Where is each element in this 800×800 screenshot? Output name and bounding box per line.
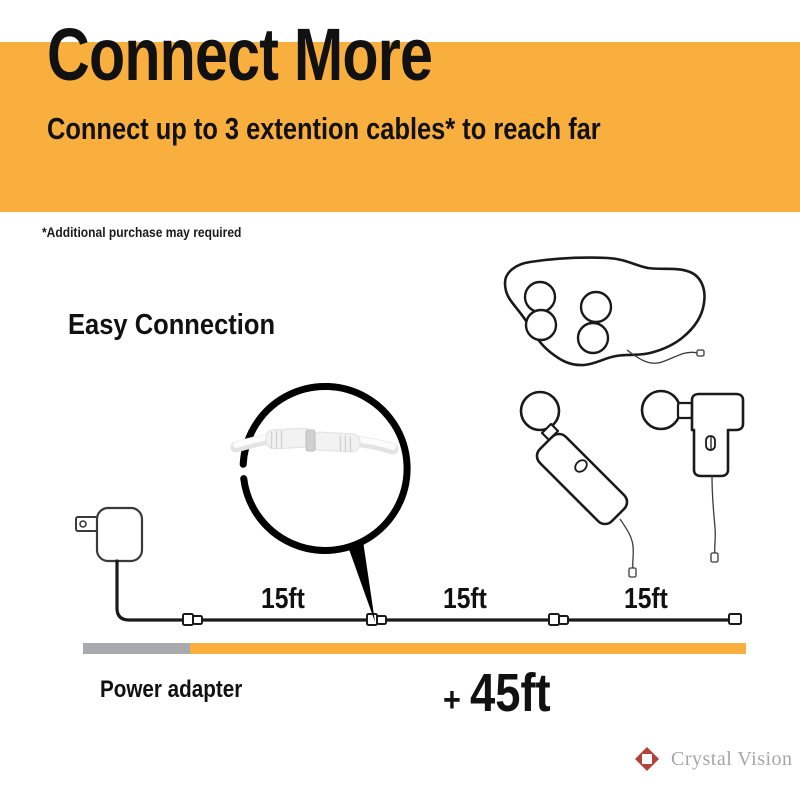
total-value: 45ft — [470, 662, 551, 724]
brand-logo: Crystal Vision — [634, 746, 793, 772]
total-length: + 45ft — [443, 662, 566, 724]
massage-pad-icon — [505, 258, 704, 365]
power-adapter-label: Power adapter — [100, 676, 242, 704]
adapter-length-bar — [83, 643, 190, 654]
massage-wand-icon — [521, 392, 636, 577]
diamond-logo-icon — [634, 746, 660, 772]
power-adapter-icon — [76, 508, 183, 620]
cable-connector — [367, 614, 386, 625]
connection-callout — [230, 373, 420, 622]
brand-name: Crystal Vision — [671, 748, 793, 771]
cable-length-label: 15ft — [443, 583, 487, 616]
total-prefix: + — [443, 681, 461, 720]
cable-connector — [183, 614, 202, 625]
cable-length-label: 15ft — [261, 583, 305, 616]
extension-length-bar — [190, 643, 746, 654]
cable-length-label: 15ft — [624, 583, 668, 616]
massage-gun-icon — [642, 391, 743, 562]
infographic-page: Connect More Connect up to 3 extention c… — [0, 0, 800, 800]
cable-connector — [549, 614, 568, 625]
